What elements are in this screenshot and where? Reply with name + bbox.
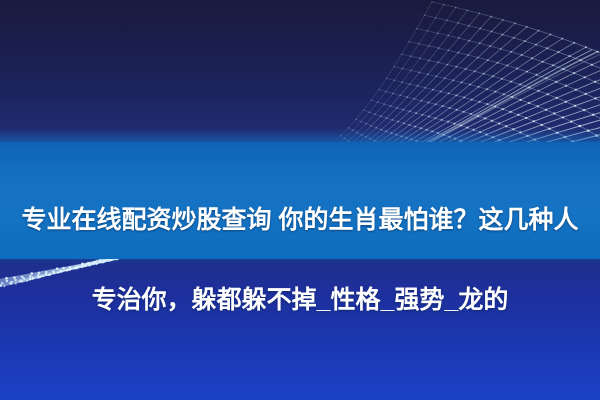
page-title: 专业在线配资炒股查询 你的生肖最怕谁？这几种人 专治你，躲都躲不掉_性格_强势_… bbox=[0, 160, 600, 360]
promo-banner: 专业在线配资炒股查询 你的生肖最怕谁？这几种人 专治你，躲都躲不掉_性格_强势_… bbox=[0, 0, 600, 400]
headline-line-1: 专业在线配资炒股查询 你的生肖最怕谁？这几种人 bbox=[0, 200, 600, 240]
headline-line-2: 专治你，躲都躲不掉_性格_强势_龙的 bbox=[0, 280, 600, 320]
